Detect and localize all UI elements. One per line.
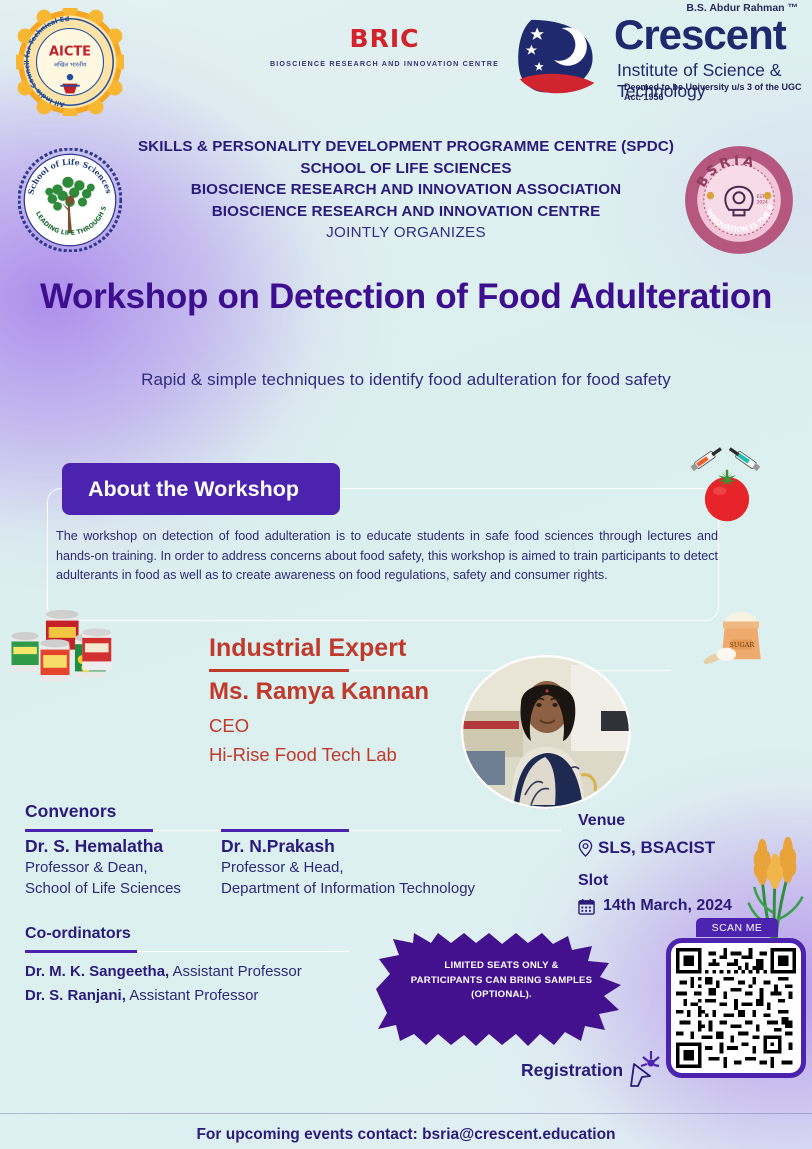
expert-portrait-photo [461,655,631,809]
registration-label: Registration [521,1060,623,1081]
convenor-name: Dr. N.Prakash [221,836,475,857]
notice-line-2: PARTICIPANTS CAN BRING SAMPLES [376,974,627,989]
expert-rule-accent [209,669,349,672]
calendar-icon [578,898,595,915]
convenor-dept: Department of Information Technology [221,878,475,899]
crescent-name: Crescent [614,14,786,56]
coordinators-rule-line [137,951,349,952]
about-the-workshop-tab: About the Workshop [62,463,340,515]
organizer-line-1: SKILLS & PERSONALITY DEVELOPMENT PROGRAM… [0,136,812,158]
click-cursor-icon [625,1048,661,1088]
about-tab-label: About the Workshop [88,477,299,502]
poster-title: Workshop on Detection of Food Adulterati… [0,277,812,317]
poster-subtitle: Rapid & simple techniques to identify fo… [0,370,812,390]
scan-me-tab: SCAN ME [696,918,778,937]
canned-food-icon [6,607,124,685]
expert-name: Ms. Ramya Kannan [209,678,429,706]
sugar-sack-icon: SUGAR [700,600,782,666]
coordinator-designation: Assistant Professor [169,963,302,980]
organizer-line-2: SCHOOL OF LIFE SCIENCES [0,158,812,180]
tomato-with-syringes-icon [690,445,764,527]
coordinator-name: Dr. M. K. Sangeetha, [25,963,169,980]
bric-logo: BRIC BIOSCIENCE RESEARCH AND INNOVATION … [252,24,517,68]
jointly-organizes-label: JOINTLY ORGANIZES [0,222,812,244]
convenor-card-1: Dr. S. Hemalatha Professor & Dean, Schoo… [25,836,181,899]
coordinator-designation: Assistant Professor [126,987,259,1004]
convenor-name: Dr. S. Hemalatha [25,836,181,857]
qr-code[interactable] [676,948,796,1068]
coordinator-name: Dr. S. Ranjani, [25,987,126,1004]
footer-divider [0,1113,812,1114]
convenor-dept: School of Life Sciences [25,878,181,899]
list-item: Dr. S. Ranjani, Assistant Professor [25,984,302,1008]
convenors-heading: Convenors [25,801,116,822]
convenor-title: Professor & Dean, [25,857,181,878]
venue-value-row: SLS, BSACIST [578,838,715,858]
convenor-card-2: Dr. N.Prakash Professor & Head, Departme… [221,836,475,899]
notice-line-3: (OPTIONAL). [376,988,627,1003]
convenors-rule-right-ext [349,830,561,831]
slot-label: Slot [578,872,608,890]
svg-text:अखिल भारतीय: अखिल भारतीय [54,60,87,68]
convenor-title: Professor & Head, [221,857,475,878]
limited-seats-text: LIMITED SEATS ONLY & PARTICIPANTS CAN BR… [376,959,627,1003]
coordinators-heading: Co-ordinators [25,925,131,943]
organizers-block: SKILLS & PERSONALITY DEVELOPMENT PROGRAM… [0,136,812,244]
convenors-rule-left [25,829,153,832]
organizer-line-3: BIOSCIENCE RESEARCH AND INNOVATION ASSOC… [0,179,812,201]
convenors-rule-left-ext [153,830,221,831]
list-item: Dr. M. K. Sangeetha, Assistant Professor [25,960,302,984]
crescent-logo: B.S. Abdur Rahman ™ Crescent Institute o… [514,2,804,112]
slot-value-row: 14th March, 2024 [578,897,732,915]
coordinators-list: Dr. M. K. Sangeetha, Assistant Professor… [25,960,302,1008]
poster-canvas: All India Council for Technical Educatio… [0,0,812,1149]
industrial-expert-label: Industrial Expert [209,634,406,663]
convenors-rule-right [221,829,349,832]
scan-me-label: SCAN ME [712,922,763,934]
venue-value: SLS, BSACIST [598,838,715,858]
expert-organization: Hi-Rise Food Tech Lab [209,744,397,766]
aicte-logo: All India Council for Technical Educatio… [16,8,124,116]
crescent-emblem-icon [514,16,610,102]
slot-value: 14th March, 2024 [603,897,732,915]
sugar-sack-label: SUGAR [729,641,755,649]
location-pin-icon [578,839,593,858]
about-body-text: The workshop on detection of food adulte… [56,527,718,586]
svg-text:AICTE: AICTE [49,45,91,60]
bric-wordmark: BRIC [252,24,517,53]
top-logo-bar: All India Council for Technical Educatio… [0,0,812,118]
crescent-deemed-line: Deemed to be University u/s 3 of the UGC… [624,82,804,102]
expert-role: CEO [209,715,249,737]
notice-line-1: LIMITED SEATS ONLY & [376,959,627,974]
organizer-line-4: BIOSCIENCE RESEARCH AND INNOVATION CENTR… [0,201,812,223]
coordinators-rule-accent [25,950,137,953]
venue-label: Venue [578,812,625,830]
footer-contact: For upcoming events contact: bsria@cresc… [0,1126,812,1144]
bric-subtitle: BIOSCIENCE RESEARCH AND INNOVATION CENTR… [252,59,517,68]
